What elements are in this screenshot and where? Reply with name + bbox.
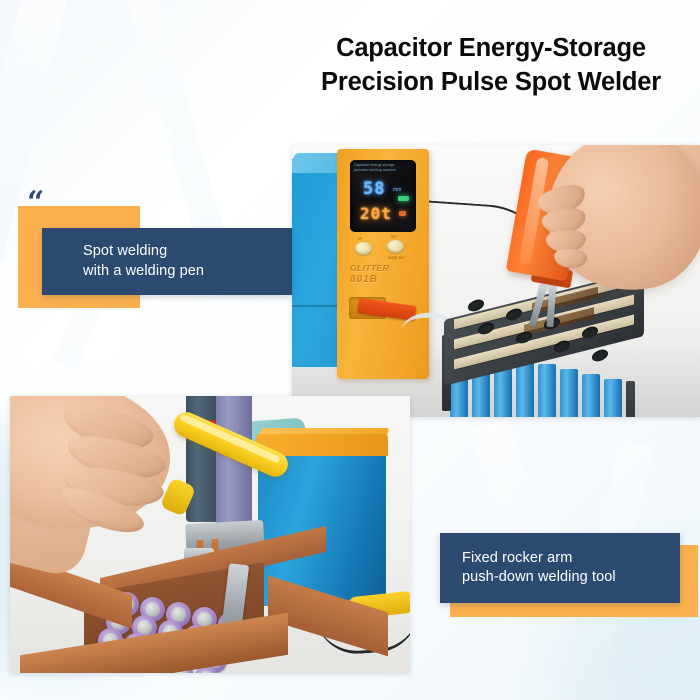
callout-2-line-1: Fixed rocker arm (462, 549, 616, 568)
welder-button-left (355, 242, 372, 255)
welder-button-right-label: SET (391, 235, 397, 239)
display-orange-indicator (399, 211, 406, 216)
callout-1-line-2: with a welding pen (83, 262, 204, 281)
battery-cell (538, 364, 556, 417)
display-unit-top: mm (393, 187, 401, 193)
welder-brand-name: GLITTER (350, 264, 389, 274)
battery-holder-right (626, 381, 635, 417)
display-header-line-1: Capacitor energy-storage (354, 163, 412, 167)
photo-rocker-arm (10, 396, 410, 673)
battery-cell (516, 359, 534, 417)
page-title: Capacitor Energy-Storage Precision Pulse… (286, 32, 696, 100)
callout-2-text: Fixed rocker arm push-down welding tool (440, 549, 616, 587)
display-value-top: 58 (363, 179, 385, 199)
scene-welding-pen: Capacitor energy-storage precision weldi… (292, 145, 700, 417)
callout-2-line-2: push-down welding tool (462, 568, 616, 587)
photo-welding-pen: Capacitor energy-storage precision weldi… (292, 145, 700, 417)
battery-cell (582, 374, 600, 417)
callout-1-line-1: Spot welding (83, 242, 204, 261)
scene-rocker-arm (10, 396, 410, 673)
welder-model: 801B (350, 274, 389, 286)
welder-button-right (387, 240, 404, 253)
quote-mark-icon: “ (27, 188, 44, 218)
welder-button-left-label: UP (358, 237, 362, 241)
page-title-line-2: Precision Pulse Spot Welder (286, 66, 696, 100)
callout-2-panel: Fixed rocker arm push-down welding tool (440, 533, 680, 603)
display-header-line-2: precision welding machine (354, 168, 412, 172)
welder-led-display: Capacitor energy-storage precision weldi… (350, 160, 416, 232)
welder-mode-label: MODE SET (388, 256, 405, 260)
callout-1-panel: Spot welding with a welding pen (42, 228, 292, 295)
battery-cell (604, 379, 622, 417)
callout-1-text: Spot welding with a welding pen (42, 242, 204, 280)
welder-brand: GLITTER 801B (350, 264, 389, 285)
page-title-line-1: Capacitor Energy-Storage (286, 32, 696, 66)
product-infographic: Capacitor Energy-Storage Precision Pulse… (0, 0, 700, 700)
battery-cell (560, 369, 578, 417)
display-green-indicator (398, 196, 409, 201)
display-value-bottom: 20t (360, 204, 392, 223)
